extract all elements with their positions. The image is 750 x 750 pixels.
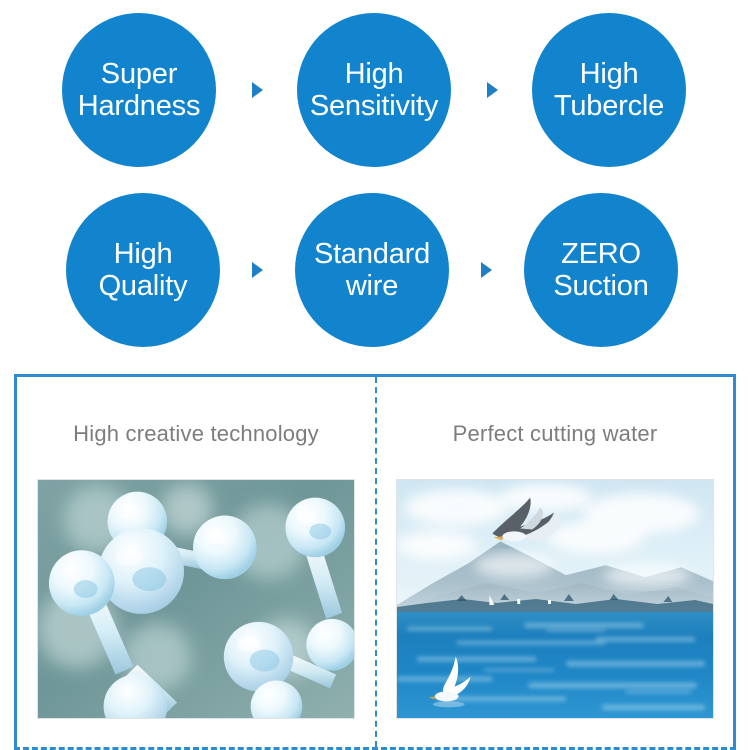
ice-molecule-illustration: [38, 480, 354, 718]
feature-flow-row-2: High Quality Standard wire ZERO Suction: [0, 180, 750, 360]
feature-circle-line-2: Quality: [99, 270, 188, 302]
feature-circle-line-1: Standard: [314, 238, 430, 270]
seagull-lake-illustration: [397, 480, 713, 718]
feature-circle-line-1: Super: [101, 58, 177, 90]
showcase-column-left: High creative technology: [17, 377, 377, 747]
arrow-right-icon: [252, 82, 263, 98]
arrow-right-icon: [481, 262, 492, 278]
showcase-caption-right: Perfect cutting water: [453, 421, 658, 447]
feature-circle-high-tubercle[interactable]: High Tubercle: [532, 13, 686, 167]
feature-circle-standard-wire[interactable]: Standard wire: [295, 193, 449, 347]
showcase-panel: High creative technology: [14, 374, 736, 750]
feature-circle-line-2: Sensitivity: [310, 90, 438, 122]
feature-circle-high-quality[interactable]: High Quality: [66, 193, 220, 347]
feature-circle-line-2: Suction: [553, 270, 648, 302]
feature-circle-line-1: High: [580, 58, 639, 90]
feature-circle-line-1: High: [114, 238, 173, 270]
feature-circle-line-2: Tubercle: [554, 90, 664, 122]
arrow-right-icon: [252, 262, 263, 278]
ice-molecule-photo: [37, 479, 355, 719]
feature-circle-high-sensitivity[interactable]: High Sensitivity: [297, 13, 451, 167]
showcase-caption-left: High creative technology: [73, 421, 319, 447]
feature-flow-section: Super Hardness High Sensitivity High Tub…: [0, 0, 750, 360]
feature-flow-row-1: Super Hardness High Sensitivity High Tub…: [0, 0, 750, 180]
seagull-over-lake-photo: [396, 479, 714, 719]
feature-circle-line-2: wire: [346, 270, 398, 302]
feature-circle-line-2: Hardness: [78, 90, 201, 122]
feature-circle-line-1: High: [345, 58, 404, 90]
arrow-right-icon: [487, 82, 498, 98]
feature-circle-line-1: ZERO: [561, 238, 641, 270]
feature-circle-super-hardness[interactable]: Super Hardness: [62, 13, 216, 167]
feature-circle-zero-suction[interactable]: ZERO Suction: [524, 193, 678, 347]
showcase-column-right: Perfect cutting water: [377, 377, 733, 747]
